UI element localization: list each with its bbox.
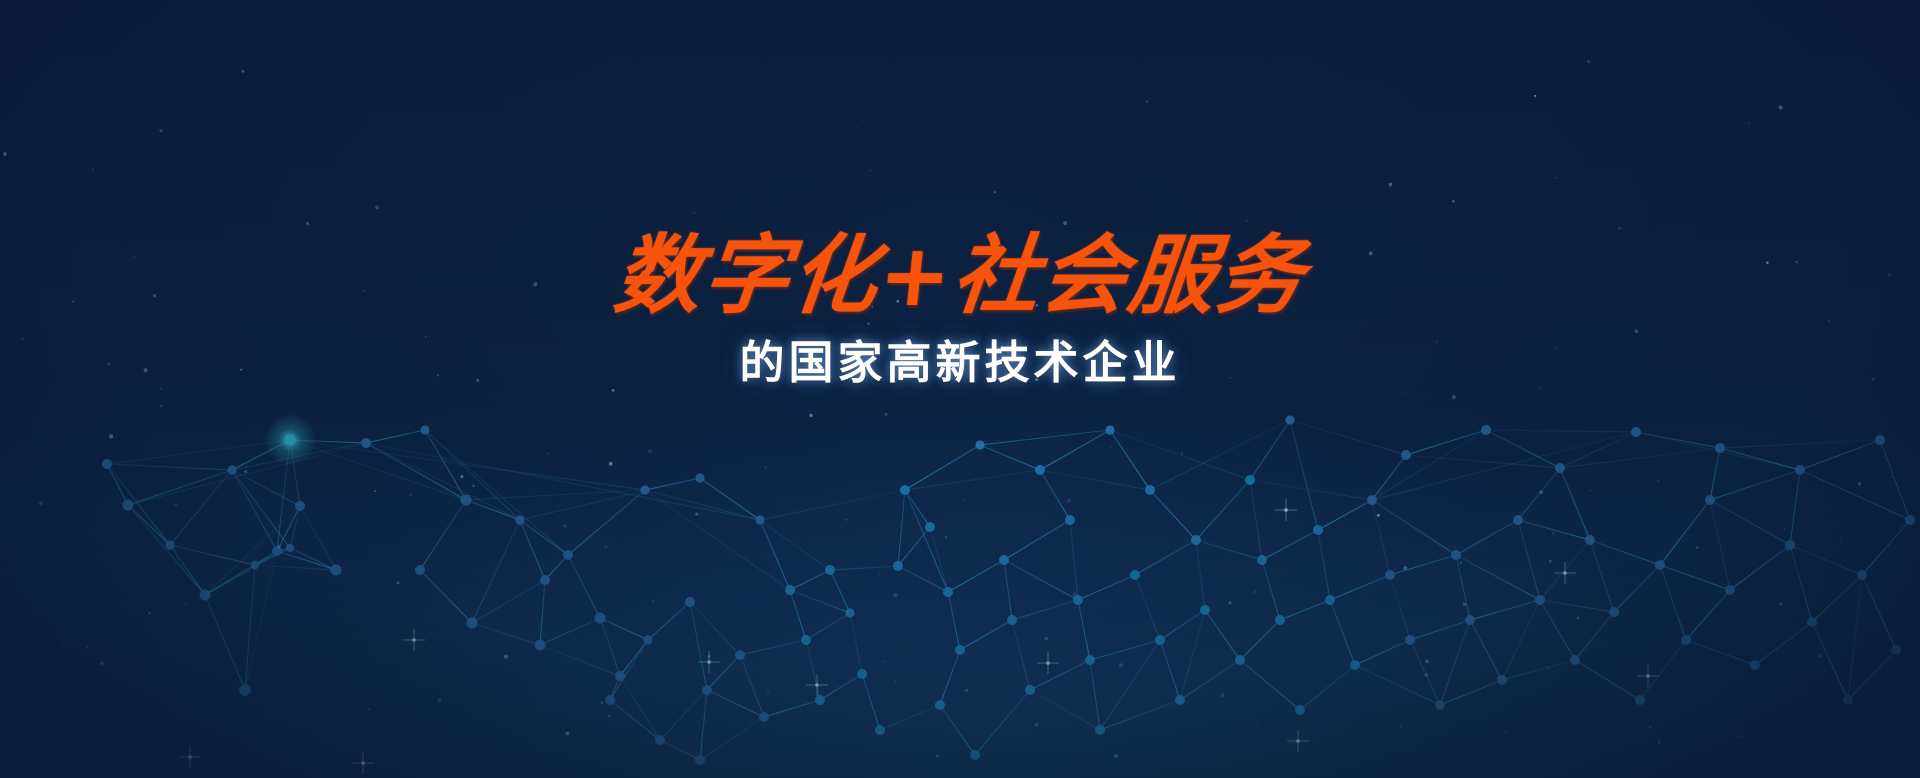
banner-subline: 的国家高新技术企业 [0, 337, 1920, 389]
banner-text-block: 数字化+社会服务 的国家高新技术企业 [0, 232, 1920, 389]
banner-root: 数字化+社会服务 的国家高新技术企业 [0, 0, 1920, 778]
banner-headline: 数字化+社会服务 [0, 232, 1920, 321]
